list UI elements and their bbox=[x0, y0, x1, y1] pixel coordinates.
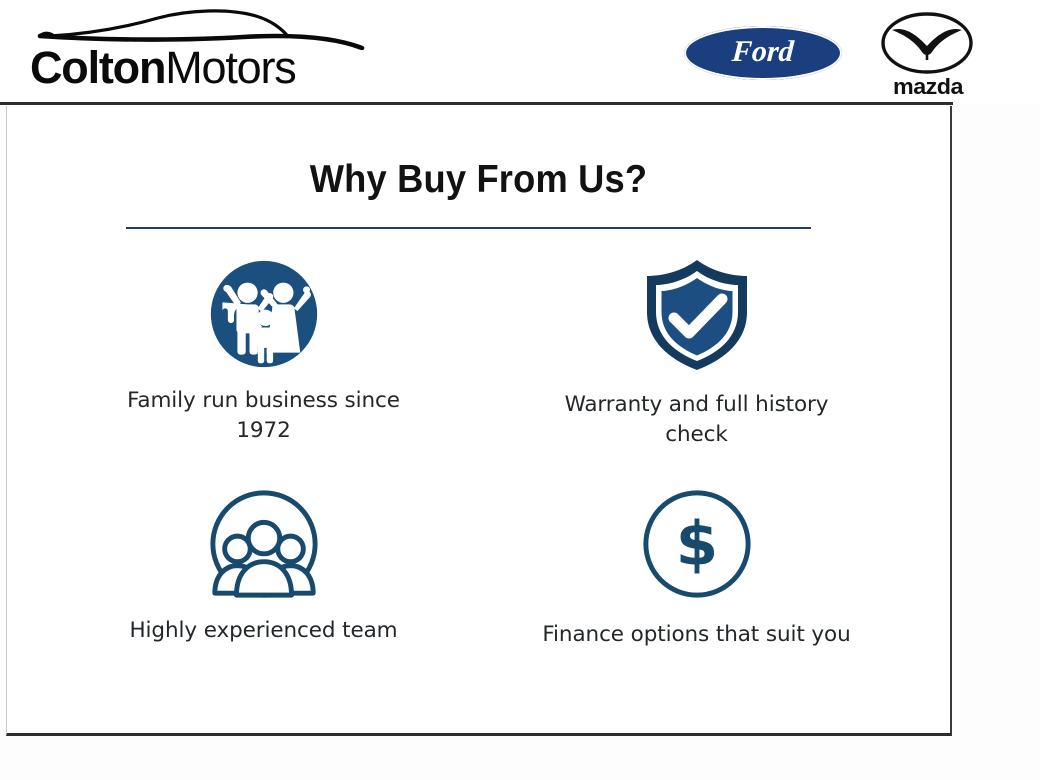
page-title: Why Buy From Us? bbox=[40, 158, 917, 202]
brand-wordmark: ColtonMotors bbox=[30, 44, 296, 92]
svg-text:$: $ bbox=[675, 509, 717, 580]
feature-item: Warranty and full history check bbox=[480, 254, 913, 484]
colton-motors-logo[interactable]: ColtonMotors bbox=[28, 4, 388, 100]
family-icon bbox=[204, 254, 324, 374]
ford-logo[interactable]: Ford bbox=[684, 26, 842, 80]
mazda-wing-icon bbox=[880, 12, 974, 74]
feature-item: $ Finance options that suit you bbox=[480, 484, 913, 714]
ford-oval-icon: Ford bbox=[684, 26, 842, 80]
feature-label: Highly experienced team bbox=[99, 616, 429, 646]
mazda-logo-label: mazda bbox=[869, 74, 988, 100]
brand-name-light: Motors bbox=[165, 42, 295, 93]
team-group-icon bbox=[204, 484, 324, 604]
page-header: ColtonMotors Ford mazda bbox=[0, 0, 1040, 104]
header-divider bbox=[0, 102, 953, 105]
feature-item: Highly experienced team bbox=[47, 484, 480, 714]
feature-label: Family run business since 1972 bbox=[99, 386, 429, 446]
ford-logo-label: Ford bbox=[731, 35, 795, 69]
features-grid: Family run business since 1972 Warranty … bbox=[47, 254, 913, 714]
dollar-circle-icon: $ bbox=[637, 484, 757, 604]
brand-name-bold: Colton bbox=[30, 42, 165, 93]
title-divider bbox=[126, 227, 811, 229]
mazda-logo[interactable]: mazda bbox=[872, 12, 984, 100]
shield-check-icon bbox=[637, 254, 757, 374]
feature-label: Warranty and full history check bbox=[532, 390, 862, 450]
feature-label: Finance options that suit you bbox=[532, 620, 862, 650]
why-buy-card: Why Buy From Us? bbox=[6, 106, 952, 736]
feature-item: Family run business since 1972 bbox=[47, 254, 480, 484]
